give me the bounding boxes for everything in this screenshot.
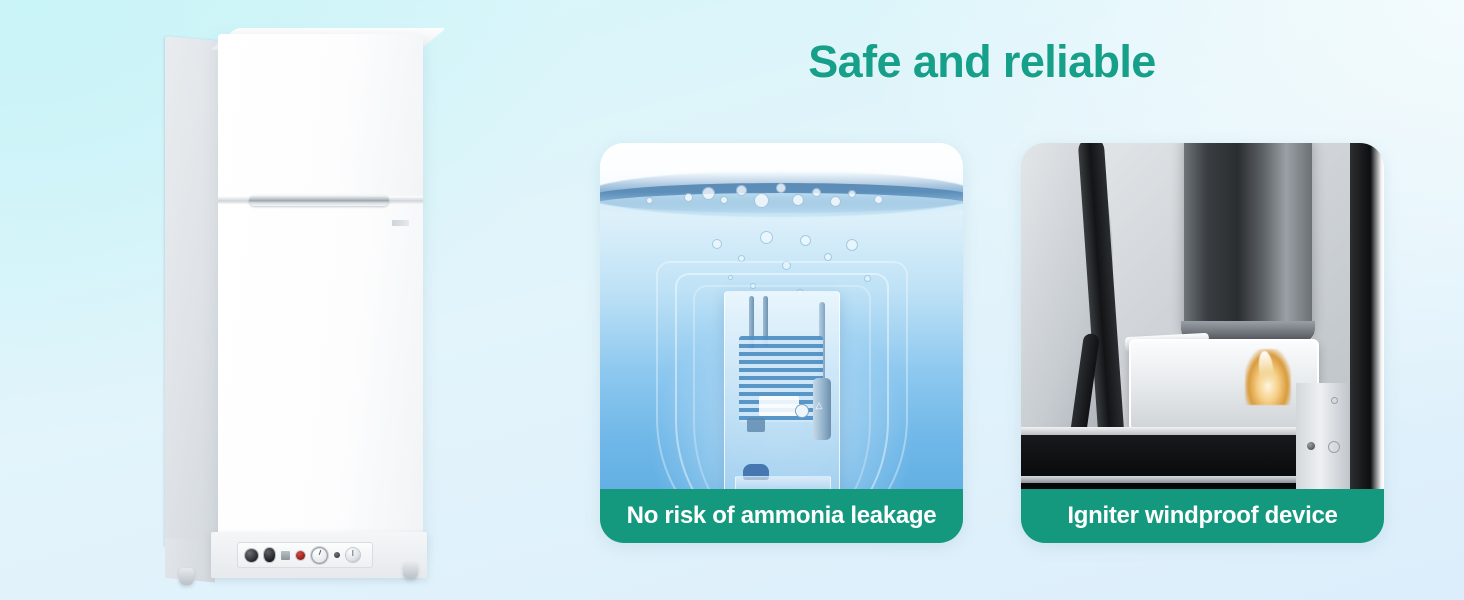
ignition-button-icon — [296, 551, 305, 560]
pressure-gauge-icon — [795, 404, 809, 418]
control-knob-selector-icon — [264, 548, 275, 562]
right-dark-wall — [1350, 143, 1384, 489]
ammonia-card-caption: No risk of ammonia leakage — [600, 489, 963, 543]
fridge-side-panel — [165, 36, 221, 553]
fridge-freezer-door — [218, 34, 423, 196]
temperature-dial-icon — [346, 548, 360, 562]
bracket-hole-2-icon — [1328, 441, 1340, 453]
fridge-front-face — [218, 34, 423, 554]
thermostat-gauge-icon — [311, 547, 328, 564]
unit-label-plate — [759, 396, 799, 416]
water-surface — [600, 163, 963, 235]
fridge-gas-control-panel — [237, 542, 373, 568]
refrigerator-illustration — [165, 20, 433, 565]
page-title: Safe and reliable — [757, 36, 1207, 88]
burner-flame-icon — [1245, 349, 1291, 405]
fridge-door-handle — [249, 195, 389, 206]
cooling-unit-cutaway — [724, 291, 840, 489]
hero-product-image — [150, 8, 450, 593]
igniter-card-caption: Igniter windproof device — [1021, 489, 1384, 543]
control-label-plate-icon — [281, 551, 290, 560]
lower-rail — [1021, 476, 1332, 483]
bracket-screw-1-icon — [1306, 441, 1316, 451]
bracket-hole-1-icon — [1331, 397, 1338, 404]
fridge-brand-badge — [392, 220, 409, 226]
fridge-fresh-food-door — [218, 204, 423, 554]
feature-card-igniter-windproof: Igniter windproof device — [1021, 143, 1384, 543]
ammonia-cylinder — [813, 378, 831, 440]
base-tray — [735, 476, 831, 489]
feature-card-ammonia-leakage: No risk of ammonia leakage — [600, 143, 963, 543]
control-knob-black-icon — [245, 549, 258, 562]
side-bracket — [1296, 383, 1350, 489]
igniter-card-image — [1021, 143, 1384, 489]
fridge-foot-right — [403, 562, 418, 579]
indicator-light-icon — [334, 552, 340, 558]
underwater-scene — [600, 143, 963, 489]
control-box — [747, 418, 765, 432]
igniter-scene — [1021, 143, 1384, 489]
ammonia-card-image — [600, 143, 963, 489]
fridge-foot-left — [179, 568, 194, 585]
steel-chimney — [1184, 143, 1312, 333]
